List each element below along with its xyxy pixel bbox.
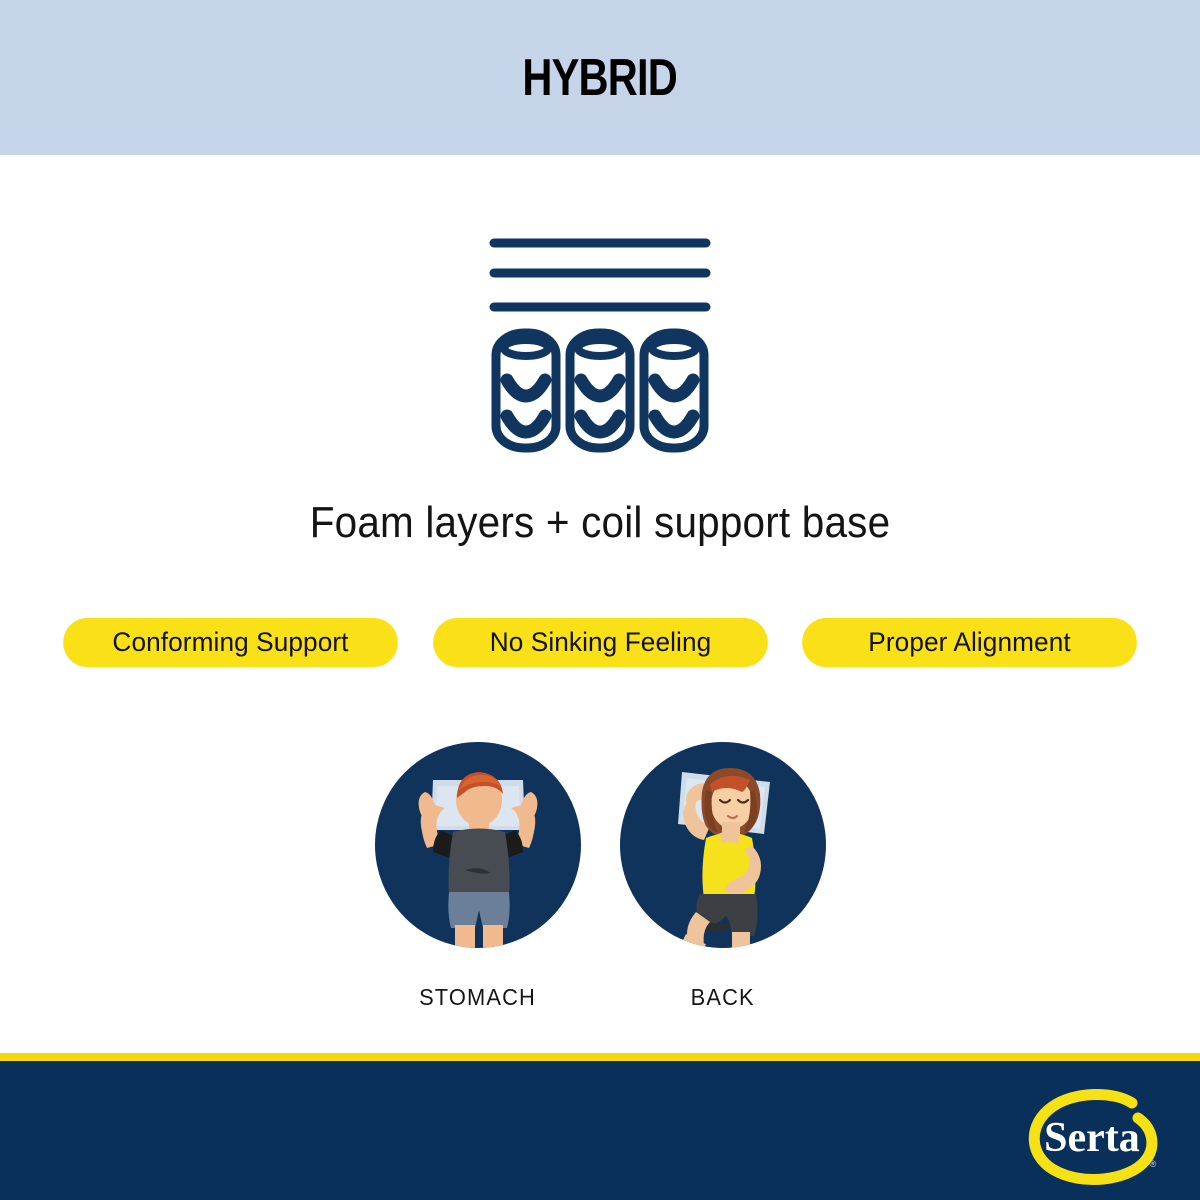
benefit-pill-proper-alignment[interactable]: Proper Alignment [802, 618, 1137, 667]
page-title: HYBRID [523, 52, 678, 104]
back-sleeper-circle [620, 742, 826, 948]
sleep-position-row: STOMACH [0, 742, 1200, 1011]
headline-text: Foam layers + coil support base [48, 498, 1152, 548]
stomach-sleeper-circle [375, 742, 581, 948]
footer-accent-stripe [0, 1053, 1200, 1061]
serta-logo[interactable]: Serta ® [1014, 1085, 1174, 1195]
hybrid-mattress-layers-coils-icon [485, 215, 715, 455]
benefit-pill-no-sinking-feeling[interactable]: No Sinking Feeling [433, 618, 768, 667]
benefit-pill-conforming-support[interactable]: Conforming Support [63, 618, 398, 667]
header-band: HYBRID [0, 0, 1200, 155]
serta-trademark-symbol: ® [1150, 1159, 1157, 1169]
sleep-position-back[interactable]: BACK [620, 742, 826, 1011]
serta-logo-text: Serta [1044, 1115, 1140, 1161]
benefit-pill-row: Conforming Support No Sinking Feeling Pr… [58, 618, 1142, 667]
coil-3 [644, 333, 704, 448]
coil-2 [570, 333, 630, 448]
sleep-position-label-stomach: STOMACH [419, 984, 536, 1011]
sleep-position-stomach[interactable]: STOMACH [375, 742, 581, 1011]
coil-1 [496, 333, 556, 448]
stomach-sleeper-illustration [375, 742, 581, 948]
hybrid-icon-container [0, 215, 1200, 460]
back-sleeper-illustration [620, 742, 826, 948]
serta-logo-mark: Serta ® [1014, 1085, 1174, 1195]
sleep-position-label-back: BACK [690, 984, 754, 1011]
